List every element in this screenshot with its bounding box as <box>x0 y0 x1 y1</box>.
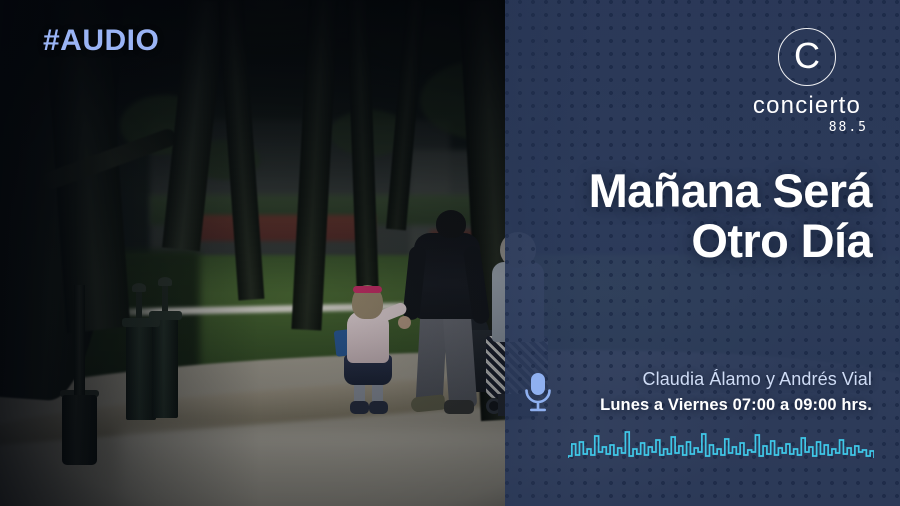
logo-letter-c: C <box>794 38 820 74</box>
audio-waveform <box>568 428 874 480</box>
microphone-icon[interactable] <box>520 371 556 415</box>
logo-circle-icon: C <box>778 28 836 86</box>
program-schedule: Lunes a Viernes 07:00 a 09:00 hrs. <box>512 396 872 415</box>
program-title-line-2: Otro Día <box>522 216 872 266</box>
program-hosts: Claudia Álamo y Andrés Vial <box>512 369 872 390</box>
logo-frequency: 88.5 <box>742 120 872 135</box>
logo-wordmark: concierto <box>742 92 872 120</box>
audio-category-badge: #AUDIO <box>43 24 159 58</box>
station-logo[interactable]: C concierto 88.5 <box>742 28 872 135</box>
program-title-line-1: Mañana Será <box>522 166 872 216</box>
broadcast-show-card: #AUDIO C concierto 88.5 Mañana Será Otro… <box>0 0 900 506</box>
photo-left-vignette <box>0 0 260 506</box>
microphone-glyph <box>520 371 556 415</box>
waveform-graph <box>568 428 874 480</box>
program-title: Mañana Será Otro Día <box>522 166 872 266</box>
